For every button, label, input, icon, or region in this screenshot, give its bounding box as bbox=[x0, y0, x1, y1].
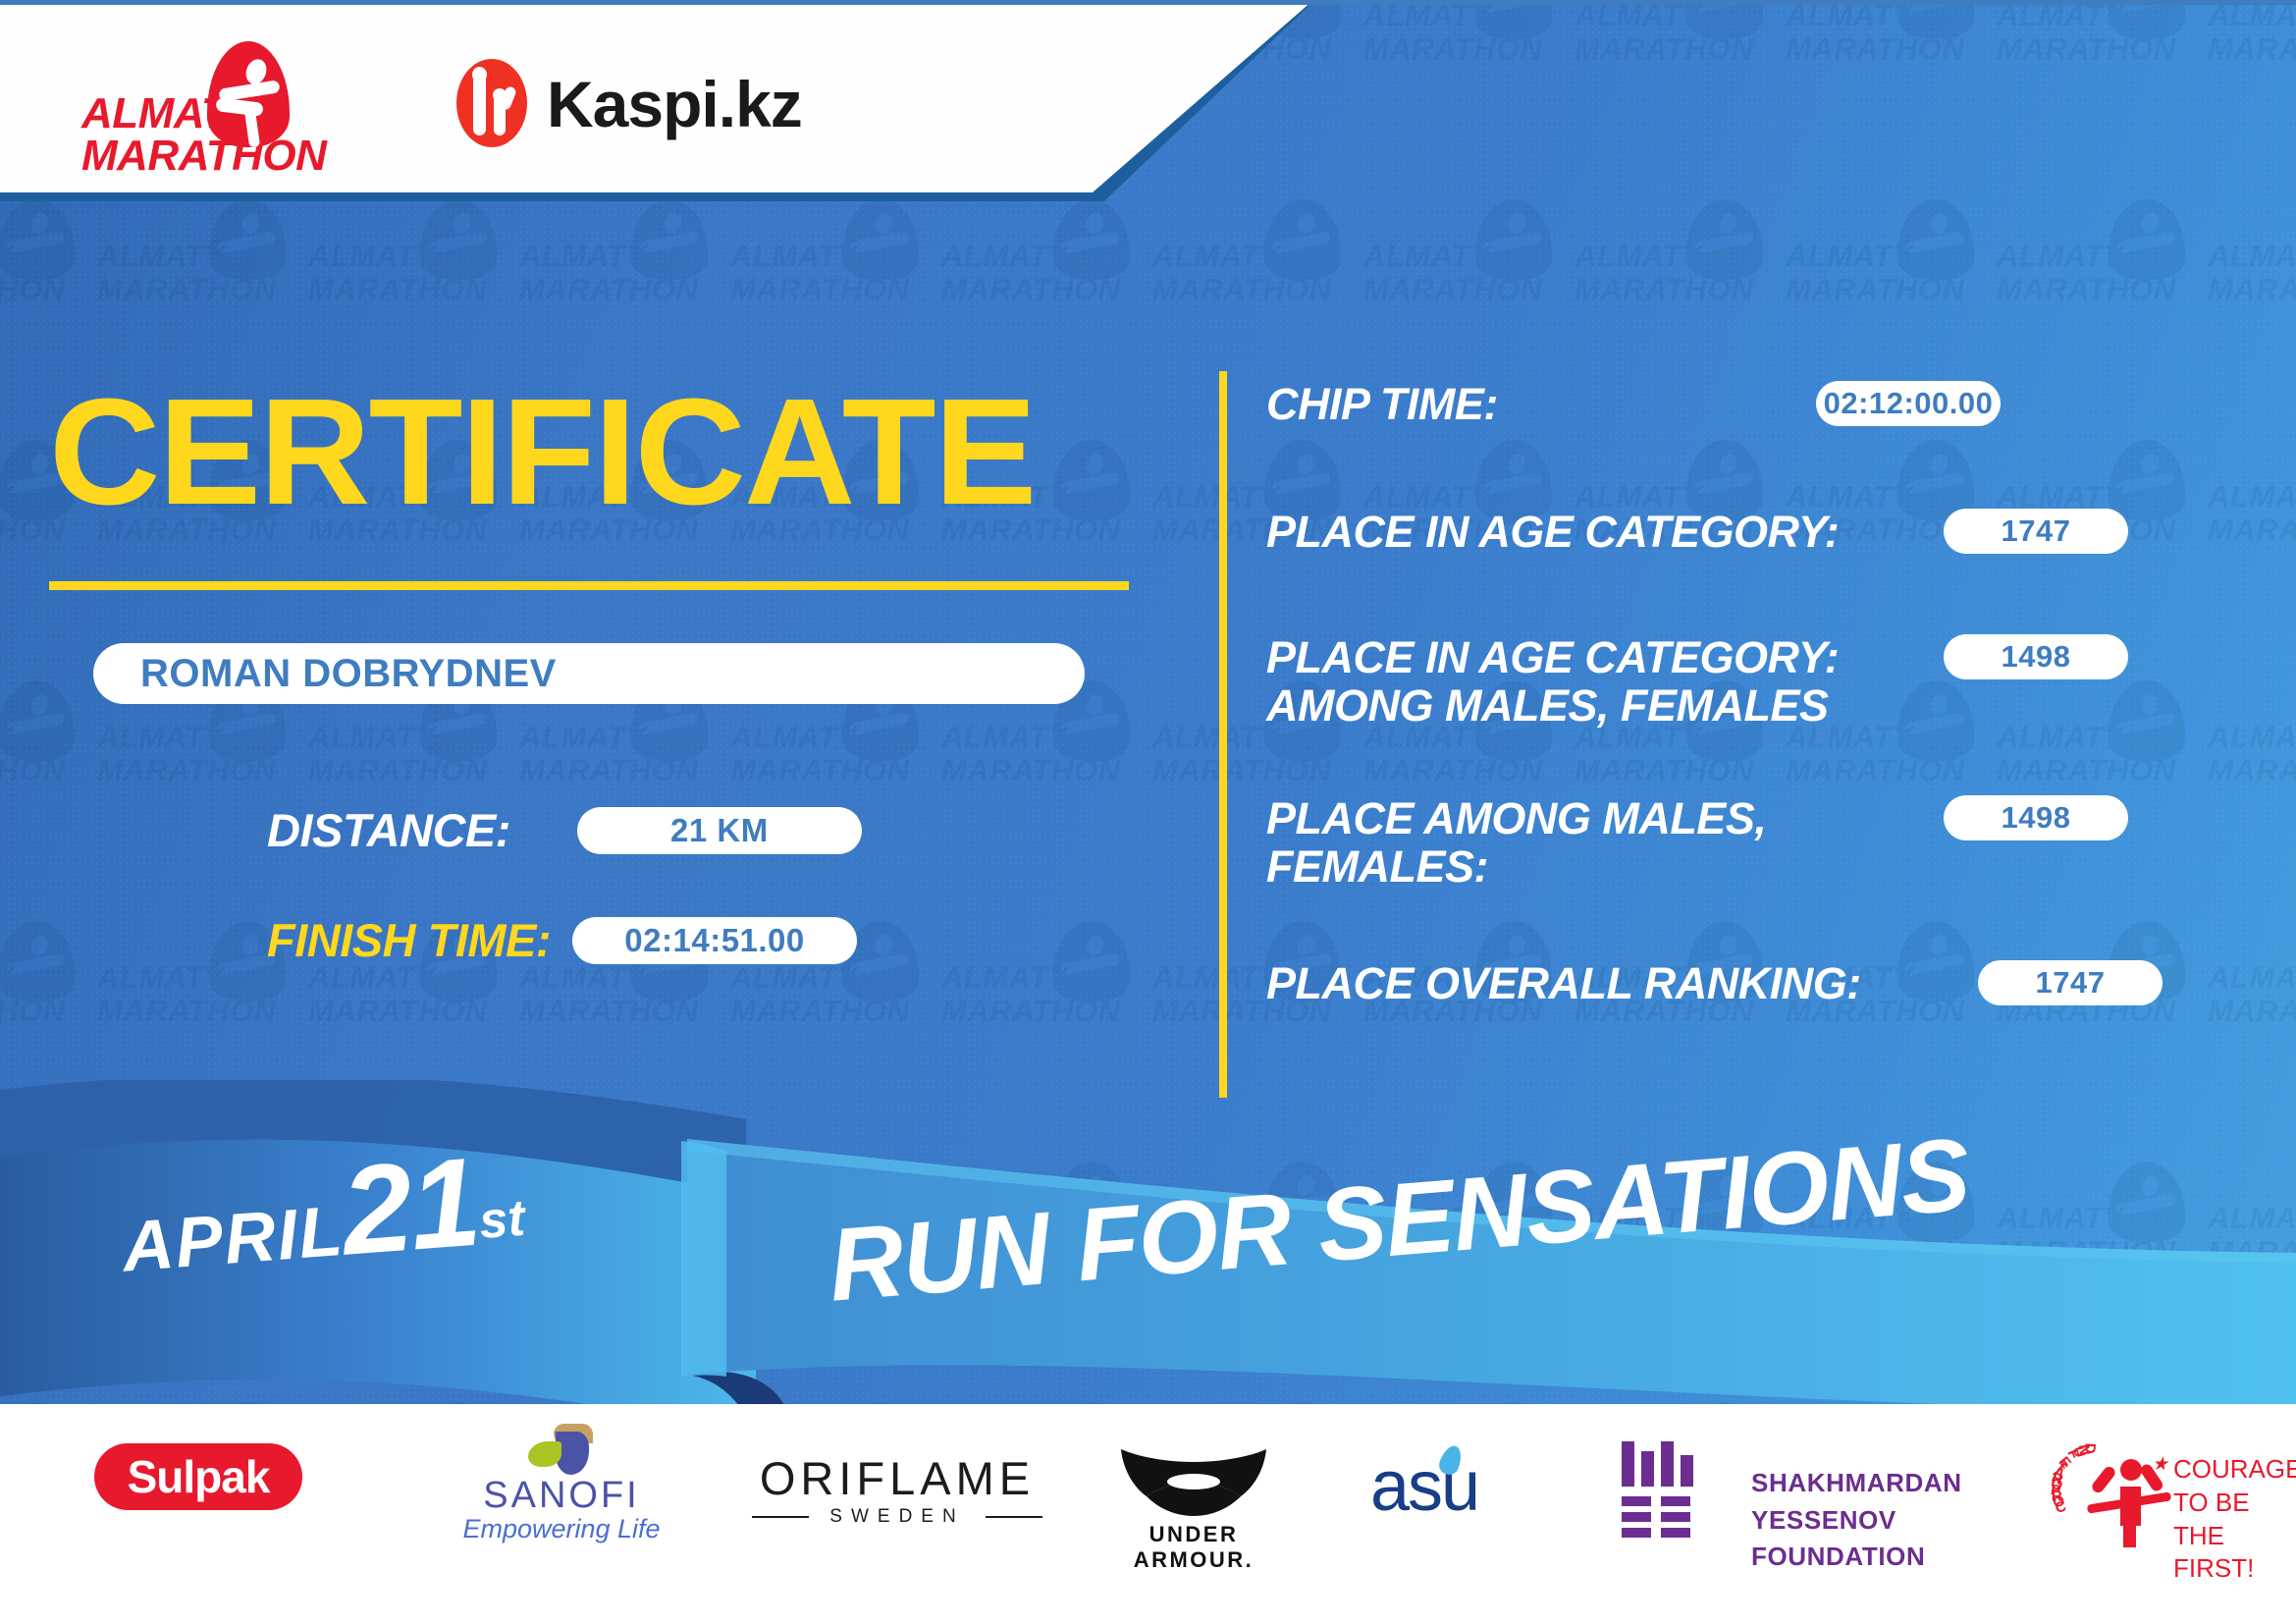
watermark-line1: ALMATY bbox=[0, 960, 14, 996]
top-blue-rule bbox=[0, 0, 2296, 5]
watermark-line1: ALMATY bbox=[0, 239, 14, 274]
watermark-line2: MARATHON bbox=[519, 994, 699, 1029]
finish-time-value: 02:14:51.00 bbox=[572, 917, 857, 964]
watermark-line1: ALMATY bbox=[97, 960, 225, 996]
watermark-line2: MARATHON bbox=[0, 272, 66, 307]
certificate-canvas: ALMATYMARATHONALMATYMARATHONALMATYMARATH… bbox=[0, 0, 2296, 1624]
watermark-line1: ALMATY bbox=[1152, 479, 1280, 514]
yessenov-bar bbox=[1661, 1528, 1690, 1538]
yessenov-bar bbox=[1622, 1528, 1651, 1538]
watermark-line2: MARATHON bbox=[2208, 272, 2296, 307]
watermark-line1: ALMATY bbox=[2208, 0, 2296, 33]
sponsor-logo-asu: asu bbox=[1370, 1451, 1547, 1534]
sponsor-logo-yessenov-foundation: SHAKHMARDAN YESSENOV FOUNDATION bbox=[1622, 1441, 2034, 1551]
watermark-line1: ALMATY bbox=[730, 239, 858, 274]
watermark-line1: ALMATY bbox=[2208, 239, 2296, 274]
watermark-line1: ALMATY bbox=[0, 720, 14, 755]
watermark-tile: ALMATYMARATHON bbox=[1782, 0, 1993, 182]
chip-time-label: CHIP TIME: bbox=[1266, 381, 1816, 429]
place-among-males-females-label: PLACE AMONG MALES, FEMALES: bbox=[1266, 795, 1944, 891]
place-in-age-category-among-value: 1498 bbox=[1944, 634, 2128, 679]
courage-figure-leg bbox=[2123, 1520, 2136, 1547]
place-among-males-females-label-line2: FEMALES: bbox=[1266, 843, 1944, 892]
courage-figure-arm-left bbox=[2090, 1464, 2117, 1494]
running-figure-drop-icon bbox=[207, 41, 290, 147]
watermark-line1: ALMATY bbox=[1152, 239, 1280, 274]
watermark-line1: ALMATY bbox=[730, 720, 858, 755]
sponsor-logo-under-armour-label: UNDER ARMOUR. bbox=[1092, 1522, 1296, 1573]
place-in-age-category-among-label-line2: AMONG MALES, FEMALES bbox=[1266, 682, 1944, 731]
watermark-line2: MARATHON bbox=[519, 753, 699, 788]
watermark-line2: MARATHON bbox=[1575, 31, 1754, 67]
watermark-line2: MARATHON bbox=[1997, 272, 2176, 307]
watermark-line2: MARATHON bbox=[730, 994, 910, 1029]
watermark-line2: MARATHON bbox=[308, 753, 488, 788]
courage-figure-head bbox=[2120, 1459, 2142, 1481]
figure-leg-shape bbox=[215, 97, 263, 117]
watermark-line1: ALMATY bbox=[1152, 720, 1280, 755]
place-among-males-females-label-line1: PLACE AMONG MALES, bbox=[1266, 795, 1944, 843]
watermark-line2: MARATHON bbox=[1575, 272, 1754, 307]
yessenov-bars-icon bbox=[1622, 1441, 1716, 1543]
watermark-line2: MARATHON bbox=[519, 272, 699, 307]
sponsor-logo-sanofi-label: SANOFI bbox=[444, 1475, 679, 1517]
watermark-tile: ALMATYMARATHON bbox=[1360, 0, 1571, 182]
event-month: APRIL bbox=[120, 1192, 347, 1287]
watermark-line1: ALMATY bbox=[308, 239, 436, 274]
watermark-line2: MARATHON bbox=[308, 994, 488, 1029]
finish-time-row: FINISH TIME: 02:14:51.00 bbox=[267, 913, 857, 967]
watermark-line1: ALMATY bbox=[97, 239, 225, 274]
watermark-line1: ALMATY bbox=[941, 960, 1069, 996]
watermark-line1: ALMATY bbox=[1997, 239, 2124, 274]
courage-figure-icon: ★ bbox=[2095, 1451, 2165, 1545]
watermark-line1: ALMATY bbox=[941, 239, 1069, 274]
chip-time-value: 02:12:00.00 bbox=[1816, 381, 2001, 426]
sponsor-logo-courage-fund-text: COURAGE TO BE THE FIRST! bbox=[2173, 1453, 2296, 1586]
yessenov-bar bbox=[1681, 1455, 1693, 1487]
place-overall-ranking-value: 1747 bbox=[1978, 960, 2163, 1005]
watermark-line2: MARATHON bbox=[2208, 31, 2296, 67]
sponsor-logo-sanofi: SANOFI Empowering Life bbox=[444, 1424, 679, 1534]
place-overall-ranking-label: PLACE OVERALL RANKING: bbox=[1266, 960, 1978, 1008]
sponsor-logo-courage-fund: CORPORATE FUND ★ COURAGE TO BE THE FIRST… bbox=[2048, 1430, 2278, 1559]
place-in-age-category-among-row: PLACE IN AGE CATEGORY: AMONG MALES, FEMA… bbox=[1266, 634, 2209, 730]
sanofi-mark-green bbox=[528, 1441, 561, 1467]
almaty-marathon-logo-text: ALMATY MARATHON bbox=[81, 92, 326, 177]
watermark-line1: ALMATY bbox=[1363, 239, 1491, 274]
courage-line1: COURAGE bbox=[2173, 1453, 2296, 1487]
watermark-line1: ALMATY bbox=[1786, 239, 1913, 274]
event-date: APRIL21st bbox=[116, 1126, 528, 1300]
almaty-marathon-logo-line2: MARATHON bbox=[81, 135, 326, 177]
watermark-line2: MARATHON bbox=[941, 272, 1121, 307]
watermark-line1: ALMATY bbox=[97, 720, 225, 755]
yessenov-bar bbox=[1661, 1496, 1690, 1506]
place-overall-ranking-row: PLACE OVERALL RANKING: 1747 bbox=[1266, 960, 2209, 1008]
watermark-line1: ALMATY bbox=[1997, 0, 2124, 33]
title-underline bbox=[49, 581, 1129, 590]
watermark-line2: MARATHON bbox=[941, 753, 1121, 788]
watermark-line2: MARATHON bbox=[730, 272, 910, 307]
watermark-line1: ALMATY bbox=[1786, 0, 1913, 33]
kaspi-logo: Kaspi.kz bbox=[456, 59, 731, 149]
place-among-males-females-value: 1498 bbox=[1944, 795, 2128, 840]
sponsor-logo-under-armour: UNDER ARMOUR. bbox=[1092, 1443, 1296, 1549]
watermark-line2: MARATHON bbox=[941, 994, 1121, 1029]
sponsor-logo-sulpak: Sulpak bbox=[94, 1443, 302, 1510]
watermark-line2: MARATHON bbox=[1363, 31, 1543, 67]
distance-value: 21 KM bbox=[577, 807, 862, 854]
kaspi-logo-text: Kaspi.kz bbox=[547, 67, 802, 141]
place-in-age-category-among-label: PLACE IN AGE CATEGORY: AMONG MALES, FEMA… bbox=[1266, 634, 1944, 730]
watermark-line1: ALMATY bbox=[1575, 239, 1702, 274]
oriflame-rule-right bbox=[986, 1516, 1042, 1518]
place-among-males-females-row: PLACE AMONG MALES, FEMALES: 1498 bbox=[1266, 795, 2209, 891]
watermark-tile: ALMATYMARATHON bbox=[0, 663, 93, 903]
page-title: CERTIFICATE bbox=[49, 376, 1035, 527]
watermark-line2: MARATHON bbox=[730, 753, 910, 788]
athlete-name-field: ROMAN DOBRYDNEV bbox=[93, 643, 1085, 704]
watermark-line1: ALMATY bbox=[0, 479, 14, 514]
sponsor-logo-sulpak-label: Sulpak bbox=[128, 1450, 270, 1503]
place-in-age-category-value: 1747 bbox=[1944, 509, 2128, 554]
results-stats-panel: CHIP TIME: 02:12:00.00 PLACE IN AGE CATE… bbox=[1266, 371, 2238, 1098]
watermark-line2: MARATHON bbox=[1363, 272, 1543, 307]
watermark-line2: MARATHON bbox=[97, 994, 277, 1029]
courage-line3: THE FIRST! bbox=[2173, 1520, 2296, 1587]
watermark-line1: ALMATY bbox=[1363, 0, 1491, 33]
event-day-suffix: st bbox=[477, 1190, 526, 1250]
two-figures-circle-icon bbox=[456, 59, 527, 147]
yessenov-bar bbox=[1641, 1451, 1654, 1487]
column-divider bbox=[1219, 371, 1227, 1098]
sponsor-logo-yessenov-foundation-label: SHAKHMARDAN YESSENOV FOUNDATION bbox=[1751, 1465, 2036, 1576]
watermark-line1: ALMATY bbox=[519, 720, 647, 755]
watermark-tile: ALMATYMARATHON bbox=[2204, 0, 2296, 182]
yessenov-bar bbox=[1622, 1512, 1651, 1522]
watermark-line2: MARATHON bbox=[97, 272, 277, 307]
place-in-age-category-row: PLACE IN AGE CATEGORY: 1747 bbox=[1266, 509, 2209, 557]
event-day: 21 bbox=[338, 1132, 484, 1282]
place-in-age-category-label: PLACE IN AGE CATEGORY: bbox=[1266, 509, 1944, 557]
watermark-line2: MARATHON bbox=[1997, 31, 2176, 67]
yessenov-bar bbox=[1661, 1512, 1690, 1522]
finish-time-label: FINISH TIME: bbox=[267, 913, 551, 967]
kaspi-figure-tall-head bbox=[472, 67, 487, 82]
athlete-name-value: ROMAN DOBRYDNEV bbox=[93, 652, 557, 696]
watermark-line1: ALMATY bbox=[519, 239, 647, 274]
sanofi-leaf-icon bbox=[520, 1424, 593, 1471]
distance-label: DISTANCE: bbox=[267, 803, 510, 857]
chip-time-row: CHIP TIME: 02:12:00.00 bbox=[1266, 381, 2209, 429]
watermark-line2: MARATHON bbox=[1786, 31, 1965, 67]
watermark-line1: ALMATY bbox=[1575, 0, 1702, 33]
distance-row: DISTANCE: 21 KM bbox=[267, 803, 862, 857]
almaty-marathon-logo: ALMATY MARATHON bbox=[81, 41, 396, 154]
watermark-line2: MARATHON bbox=[1786, 272, 1965, 307]
yessenov-bar bbox=[1622, 1496, 1651, 1506]
watermark-line2: MARATHON bbox=[308, 272, 488, 307]
sponsor-logo-oriflame-label: ORIFLAME bbox=[750, 1451, 1044, 1505]
under-armour-mark-icon bbox=[1117, 1443, 1270, 1520]
watermark-tile: ALMATYMARATHON bbox=[1571, 0, 1782, 182]
sponsor-logo-sanofi-tagline: Empowering Life bbox=[444, 1514, 679, 1544]
watermark-line2: MARATHON bbox=[1152, 272, 1332, 307]
watermark-line2: MARATHON bbox=[0, 994, 66, 1029]
watermark-line1: ALMATY bbox=[1152, 960, 1280, 996]
place-in-age-category-among-label-line1: PLACE IN AGE CATEGORY: bbox=[1266, 634, 1944, 682]
yessenov-bar bbox=[1661, 1441, 1674, 1487]
watermark-line2: MARATHON bbox=[0, 753, 66, 788]
courage-line2: TO BE bbox=[2173, 1487, 2296, 1520]
yessenov-bar bbox=[1622, 1441, 1634, 1487]
watermark-line1: ALMATY bbox=[941, 720, 1069, 755]
watermark-line1: ALMATY bbox=[308, 720, 436, 755]
sponsor-logo-oriflame: ORIFLAME SWEDEN bbox=[750, 1451, 1044, 1530]
watermark-line2: MARATHON bbox=[97, 753, 277, 788]
watermark-tile: ALMATYMARATHON bbox=[1993, 0, 2204, 182]
